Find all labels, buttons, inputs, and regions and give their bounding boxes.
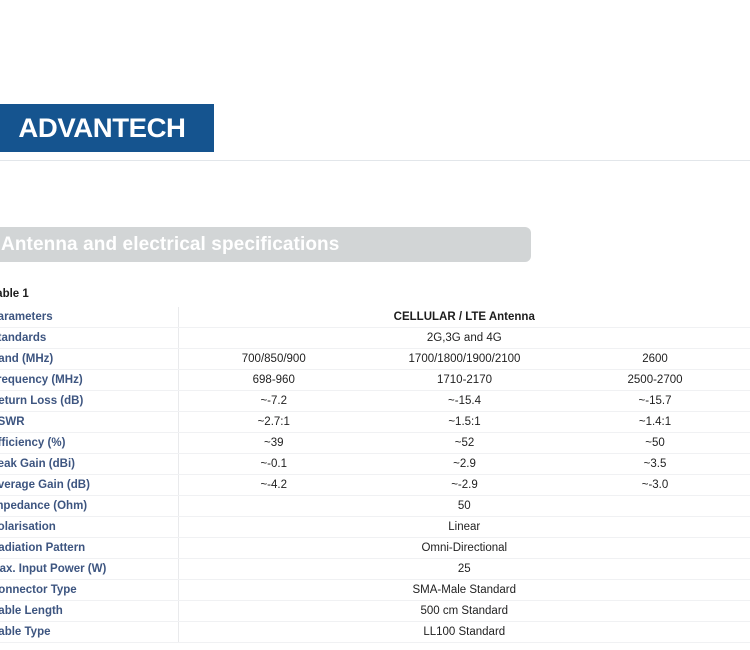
table-row-label: Connector Type: [0, 580, 178, 601]
table-row: Average Gain (dB)~-4.2~-2.9~-3.0: [0, 475, 750, 496]
table-cell-value: 500 cm Standard: [178, 601, 750, 622]
table-cell-value: Linear: [178, 517, 750, 538]
table-row-label: Parameters: [0, 307, 178, 328]
table-cell-value: ~-15.7: [560, 391, 750, 412]
table-row-label: Peak Gain (dBi): [0, 454, 178, 475]
advantech-logo: ADVANTECH: [0, 104, 214, 152]
table-row: Peak Gain (dBi)~-0.1~2.9~3.5: [0, 454, 750, 475]
table-cell-value: ~-2.9: [369, 475, 560, 496]
table-row-label: Polarisation: [0, 517, 178, 538]
table-row: ParametersCELLULAR / LTE Antenna: [0, 307, 750, 328]
page-masthead: ADVANTECH: [0, 0, 750, 161]
table-cell-value: SMA-Male Standard: [178, 580, 750, 601]
table-cell-value: ~-15.4: [369, 391, 560, 412]
table-row-label: Impedance (Ohm): [0, 496, 178, 517]
table-row: Connector TypeSMA-Male Standard: [0, 580, 750, 601]
table-cell-value: LL100 Standard: [178, 622, 750, 643]
table-row: Return Loss (dB)~-7.2~-15.4~-15.7: [0, 391, 750, 412]
table-cell-value: ~-0.1: [178, 454, 369, 475]
table-row-label: VSWR: [0, 412, 178, 433]
table-cell-value: 2G,3G and 4G: [178, 328, 750, 349]
table-cell-value: ~39: [178, 433, 369, 454]
table-row: Cable TypeLL100 Standard: [0, 622, 750, 643]
table-cell-value: ~1.4:1: [560, 412, 750, 433]
table-row: Band (MHz)700/850/9001700/1800/1900/2100…: [0, 349, 750, 370]
datasheet-page: ADVANTECH Antenna and electrical specifi…: [0, 0, 750, 650]
table-cell-value: 700/850/900: [178, 349, 369, 370]
table-row: PolarisationLinear: [0, 517, 750, 538]
table-cell-value: ~2.9: [369, 454, 560, 475]
table-cell-value: 1710-2170: [369, 370, 560, 391]
table-cell-value: 2600: [560, 349, 750, 370]
table-row: Impedance (Ohm)50: [0, 496, 750, 517]
table-cell-value: ~1.5:1: [369, 412, 560, 433]
table-row: Cable Length500 cm Standard: [0, 601, 750, 622]
table-cell-value: ~3.5: [560, 454, 750, 475]
table-row: Standards2G,3G and 4G: [0, 328, 750, 349]
table-cell-value: 50: [178, 496, 750, 517]
table-row: Efficiency (%)~39~52~50: [0, 433, 750, 454]
table-row-label: Return Loss (dB): [0, 391, 178, 412]
advantech-wordmark: ADVANTECH: [18, 113, 185, 144]
table-row-label: Standards: [0, 328, 178, 349]
table-cell-value: ~-4.2: [178, 475, 369, 496]
table-cell-value: CELLULAR / LTE Antenna: [178, 307, 750, 328]
table-row-label: Frequency (MHz): [0, 370, 178, 391]
table-cell-value: ~2.7:1: [178, 412, 369, 433]
section-title: Antenna and electrical specifications: [0, 234, 339, 256]
table-row-label: Max. Input Power (W): [0, 559, 178, 580]
table-row-label: Band (MHz): [0, 349, 178, 370]
table-cell-value: ~50: [560, 433, 750, 454]
table-cell-value: 1700/1800/1900/2100: [369, 349, 560, 370]
table-cell-value: Omni-Directional: [178, 538, 750, 559]
specifications-table: ParametersCELLULAR / LTE AntennaStandard…: [0, 307, 750, 643]
table-cell-value: 2500-2700: [560, 370, 750, 391]
table-cell-value: 25: [178, 559, 750, 580]
table-row: Max. Input Power (W)25: [0, 559, 750, 580]
masthead-divider: [0, 160, 750, 161]
table-row-label: Efficiency (%): [0, 433, 178, 454]
table-row: Radiation PatternOmni-Directional: [0, 538, 750, 559]
table-cell-value: ~-3.0: [560, 475, 750, 496]
table-row-label: Average Gain (dB): [0, 475, 178, 496]
table-row: Frequency (MHz)698-9601710-21702500-2700: [0, 370, 750, 391]
table-cell-value: ~52: [369, 433, 560, 454]
table-row-label: Radiation Pattern: [0, 538, 178, 559]
table-caption: Table 1: [0, 288, 29, 300]
table-row: VSWR~2.7:1~1.5:1~1.4:1: [0, 412, 750, 433]
section-header-band: Antenna and electrical specifications: [0, 227, 531, 262]
table-cell-value: 698-960: [178, 370, 369, 391]
specifications-table-body: ParametersCELLULAR / LTE AntennaStandard…: [0, 307, 750, 643]
table-row-label: Cable Length: [0, 601, 178, 622]
table-cell-value: ~-7.2: [178, 391, 369, 412]
table-row-label: Cable Type: [0, 622, 178, 643]
